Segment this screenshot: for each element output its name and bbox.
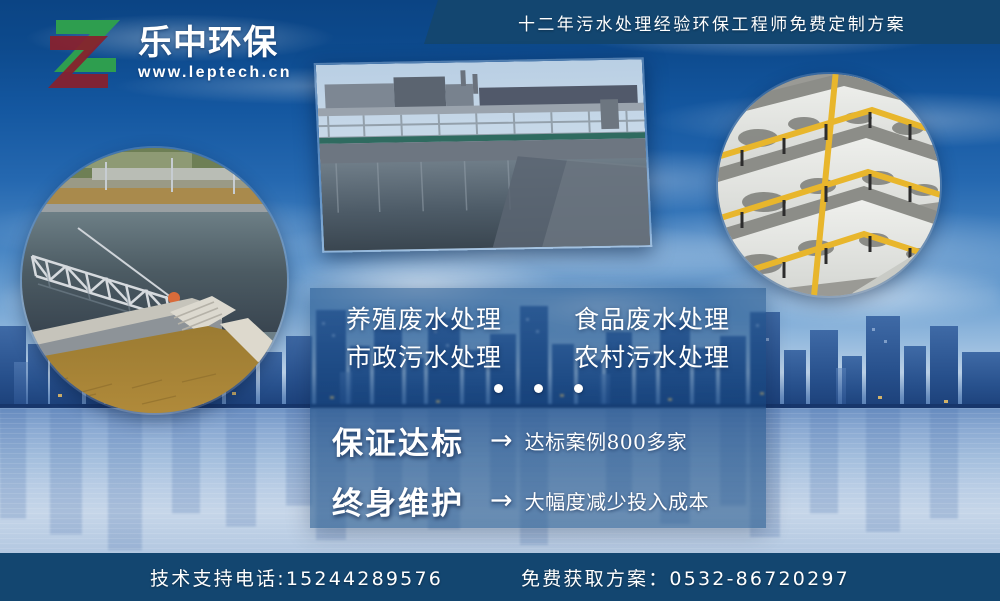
promo-key: 终身维护	[332, 478, 484, 523]
logo-company-name: 乐中环保	[138, 26, 292, 62]
footer-contact-bar: 技术支持电话:15244289576 免费获取方案：0532-86720297	[0, 553, 1000, 601]
free-plan-phone[interactable]: 免费获取方案：0532-86720297	[521, 564, 850, 591]
dot-icon	[534, 384, 543, 393]
promo-value: 达标案例800多家	[525, 426, 688, 455]
arrow-right-icon: →	[490, 487, 513, 514]
dot-icon	[494, 384, 503, 393]
arrow-right-icon: →	[490, 427, 513, 454]
brand-logo[interactable]: 乐中环保 www.leptech.cn	[46, 14, 346, 94]
logo-website: www.leptech.cn	[138, 64, 292, 82]
info-panel: 养殖废水处理 食品废水处理 市政污水处理 农村污水处理 保证达标 → 达标案例8…	[310, 288, 766, 528]
promo-row: 保证达标 → 达标案例800多家	[332, 410, 762, 470]
service-item[interactable]: 养殖废水处理	[310, 302, 538, 338]
promo-key: 保证达标	[332, 418, 484, 463]
logo-z-icon	[46, 18, 128, 90]
photo-circle-right[interactable]	[718, 74, 940, 296]
service-item[interactable]: 农村污水处理	[538, 340, 766, 376]
banner-stage: 十二年污水处理经验环保工程师免费定制方案 乐中环保 www.leptech.cn	[0, 0, 1000, 601]
dot-icon	[574, 384, 583, 393]
header-band: 十二年污水处理经验环保工程师免费定制方案	[424, 0, 1000, 44]
service-list: 养殖废水处理 食品废水处理 市政污水处理 农村污水处理	[310, 302, 766, 375]
photo-rect-center[interactable]	[314, 57, 653, 253]
header-slogan: 十二年污水处理经验环保工程师免费定制方案	[518, 10, 906, 35]
promo-value: 大幅度减少投入成本	[525, 486, 710, 515]
logo-text-block: 乐中环保 www.leptech.cn	[138, 26, 292, 82]
photo-circle-left[interactable]	[22, 148, 287, 413]
support-phone[interactable]: 技术支持电话:15244289576	[150, 564, 443, 591]
promo-row: 终身维护 → 大幅度减少投入成本	[332, 470, 762, 530]
service-item[interactable]: 市政污水处理	[310, 340, 538, 376]
ellipsis-dots	[310, 384, 766, 393]
promo-rows: 保证达标 → 达标案例800多家 终身维护 → 大幅度减少投入成本	[332, 410, 762, 530]
service-item[interactable]: 食品废水处理	[538, 302, 766, 338]
